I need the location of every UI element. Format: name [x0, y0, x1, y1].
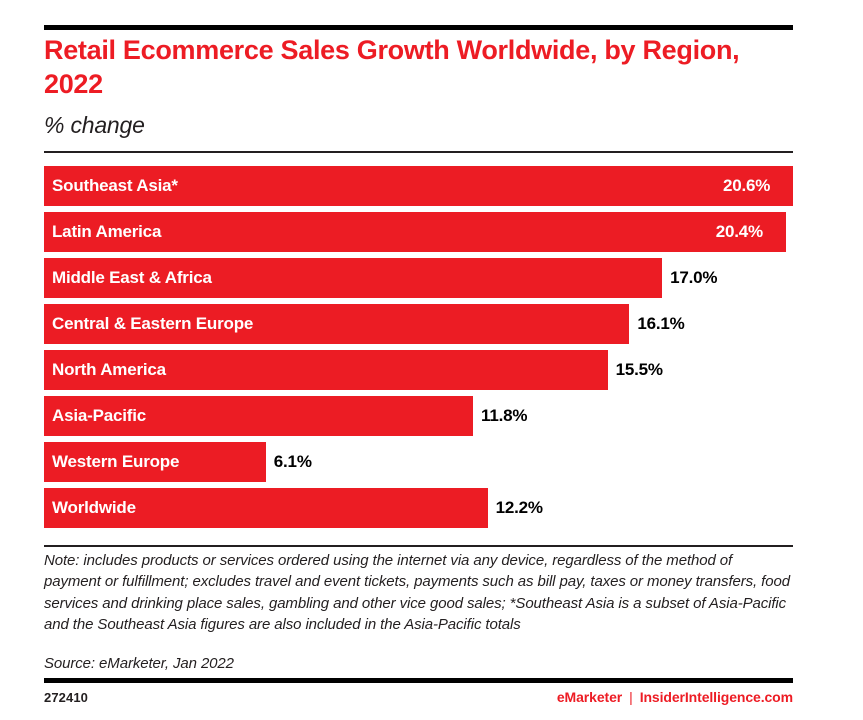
bar-value-label: 6.1%: [274, 442, 312, 482]
table-row: Western Europe6.1%: [44, 442, 793, 482]
bar-value-label: 17.0%: [670, 258, 717, 298]
bar-category-label: Southeast Asia*: [52, 166, 178, 206]
chart-source: Source: eMarketer, Jan 2022: [44, 655, 234, 672]
bar-category-label: Middle East & Africa: [52, 258, 212, 298]
footer-rule: [44, 678, 793, 683]
table-row: Middle East & Africa17.0%: [44, 258, 793, 298]
bar-value-label: 20.4%: [716, 212, 763, 252]
bar-category-label: Central & Eastern Europe: [52, 304, 253, 344]
brand-separator: |: [629, 689, 633, 705]
bar-value-label: 20.6%: [723, 166, 770, 206]
header-divider-rule: [44, 151, 793, 153]
bar-value-label: 11.8%: [481, 396, 527, 436]
bar-value-label: 16.1%: [637, 304, 684, 344]
table-row: Central & Eastern Europe16.1%: [44, 304, 793, 344]
chart-note: Note: includes products or services orde…: [44, 550, 793, 635]
table-row: Asia-Pacific11.8%: [44, 396, 793, 436]
chart-subtitle: % change: [44, 112, 145, 139]
footer-branding: eMarketer | InsiderIntelligence.com: [557, 689, 793, 705]
chart-id: 272410: [44, 690, 88, 705]
bar-category-label: Asia-Pacific: [52, 396, 146, 436]
page-title: Retail Ecommerce Sales Growth Worldwide,…: [44, 33, 744, 102]
bar-category-label: North America: [52, 350, 166, 390]
note-divider-rule: [44, 545, 793, 547]
bar-value-label: 12.2%: [496, 488, 543, 528]
table-row: North America15.5%: [44, 350, 793, 390]
chart-page: Retail Ecommerce Sales Growth Worldwide,…: [0, 0, 863, 720]
table-row: Latin America20.4%: [44, 212, 793, 252]
bar-category-label: Worldwide: [52, 488, 136, 528]
table-row: Southeast Asia*20.6%: [44, 166, 793, 206]
insider-intelligence-link[interactable]: InsiderIntelligence.com: [640, 689, 793, 705]
bar-category-label: Western Europe: [52, 442, 179, 482]
top-rule: [44, 25, 793, 30]
chart-content-frame: Retail Ecommerce Sales Growth Worldwide,…: [44, 0, 793, 720]
emarketer-brand-label: eMarketer: [557, 689, 622, 705]
bar-chart: Southeast Asia*20.6%Latin America20.4%Mi…: [44, 166, 793, 527]
bar-value-label: 15.5%: [616, 350, 663, 390]
table-row: Worldwide12.2%: [44, 488, 793, 528]
bar-category-label: Latin America: [52, 212, 161, 252]
